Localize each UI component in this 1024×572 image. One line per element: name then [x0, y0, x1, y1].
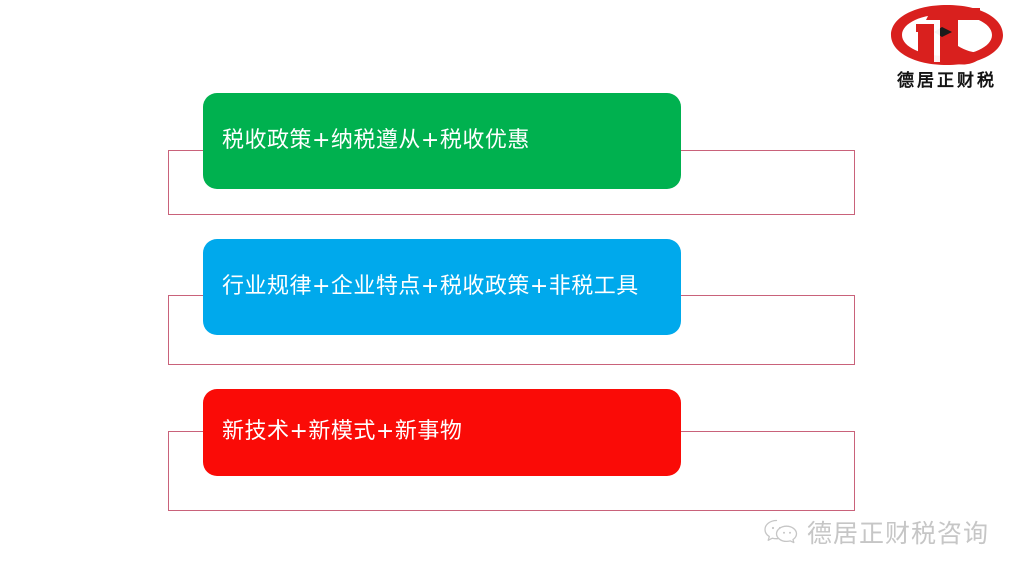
- callout-box-row-3[interactable]: 新技术+新模式+新事物: [203, 389, 681, 476]
- wechat-watermark: 德居正财税咨询: [764, 512, 989, 552]
- brand-logo: 德居正财税: [872, 2, 1022, 98]
- brand-logo-wordmark: 德居正财税: [872, 66, 1022, 91]
- callout-box-row-1-label: 税收政策+纳税遵从+税收优惠: [222, 129, 530, 153]
- wechat-watermark-label: 德居正财税咨询: [807, 514, 989, 550]
- callout-box-row-1[interactable]: 税收政策+纳税遵从+税收优惠: [203, 93, 681, 189]
- callout-box-row-3-label: 新技术+新模式+新事物: [222, 420, 462, 444]
- dejuzheng-emblem-icon: [888, 2, 1006, 68]
- callout-box-row-2-label: 行业规律+企业特点+税收政策+非税工具: [222, 275, 639, 299]
- wechat-icon: [764, 519, 798, 545]
- callout-box-row-2[interactable]: 行业规律+企业特点+税收政策+非税工具: [203, 239, 681, 335]
- slide-canvas: 税收政策+纳税遵从+税收优惠 行业规律+企业特点+税收政策+非税工具 新技术+新…: [0, 0, 1024, 572]
